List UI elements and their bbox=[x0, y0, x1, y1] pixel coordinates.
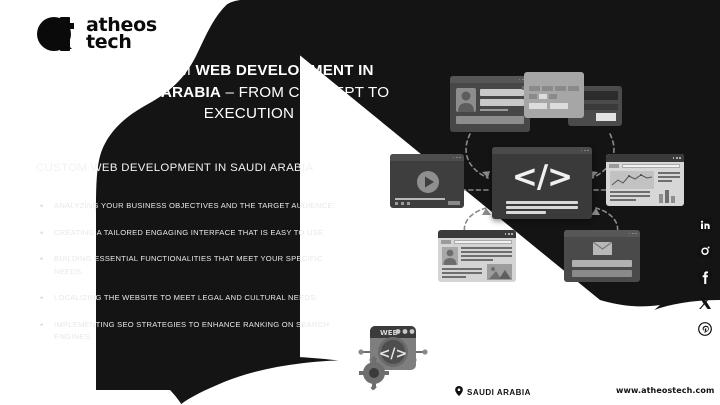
brand-wordmark: atheos tech bbox=[86, 17, 157, 52]
form-key[interactable] bbox=[529, 94, 537, 99]
article-line bbox=[461, 247, 512, 249]
poster-canvas: atheos tech CUSTOM WEB DEVELOPMENT IN SA… bbox=[0, 0, 720, 405]
footer-website[interactable]: www.atheostech.com bbox=[616, 386, 714, 395]
article-line bbox=[442, 268, 482, 270]
form-key[interactable] bbox=[529, 86, 540, 91]
window-dot-icon bbox=[679, 157, 681, 159]
svg-text:WEB: WEB bbox=[380, 329, 398, 337]
web-development-illustration: </> bbox=[392, 62, 692, 312]
form-key[interactable] bbox=[549, 94, 557, 99]
list-item: • LOCALIZING THE WEBSITE TO MEET LEGAL A… bbox=[40, 292, 340, 305]
form-key[interactable] bbox=[542, 86, 553, 91]
map-pin-icon bbox=[455, 386, 463, 398]
form-key[interactable] bbox=[539, 94, 547, 99]
window-titlebar bbox=[438, 230, 516, 238]
bullet-dot-icon: • bbox=[40, 253, 46, 279]
svg-text:</>: </> bbox=[379, 346, 408, 362]
article-line bbox=[461, 255, 512, 257]
window-dot-icon bbox=[456, 157, 458, 159]
list-item-text: ANALYZING YOUR BUSINESS OBJECTIVES AND T… bbox=[54, 200, 335, 213]
window-dot-icon bbox=[459, 157, 461, 159]
window-dot-icon bbox=[635, 233, 637, 235]
video-next-control[interactable] bbox=[401, 202, 404, 205]
list-item-text: IMPLEMENTING SEO STRATEGIES TO ENHANCE R… bbox=[54, 319, 340, 345]
window-dot-icon bbox=[508, 233, 510, 235]
bullet-dot-icon: • bbox=[40, 200, 46, 213]
sidebar-line bbox=[658, 180, 672, 182]
login-form-card[interactable] bbox=[450, 76, 530, 132]
window-titlebar bbox=[390, 154, 464, 161]
video-fullscreen-control[interactable] bbox=[448, 201, 460, 205]
video-volume-control[interactable] bbox=[407, 202, 410, 205]
envelope-icon bbox=[593, 242, 612, 255]
body-line bbox=[610, 195, 650, 197]
window-dot-icon bbox=[453, 157, 455, 159]
sidebar-line bbox=[658, 172, 680, 174]
toolbar-chip[interactable] bbox=[609, 164, 619, 168]
benefits-list: • ANALYZING YOUR BUSINESS OBJECTIVES AND… bbox=[40, 200, 340, 358]
list-item: • IMPLEMENTING SEO STRATEGIES TO ENHANCE… bbox=[40, 319, 340, 345]
analytics-dashboard-card[interactable] bbox=[606, 154, 684, 206]
form-key[interactable] bbox=[555, 86, 566, 91]
line-chart bbox=[610, 171, 654, 189]
atheos-a-t-monogram-icon bbox=[36, 13, 82, 55]
list-item-text: LOCALIZING THE WEBSITE TO MEET LEGAL AND… bbox=[54, 292, 318, 305]
footer-location-label: SAUDI ARABIA bbox=[467, 388, 531, 397]
headline-part-1: CUSTOM bbox=[124, 62, 195, 79]
avatar bbox=[442, 247, 458, 265]
video-player-card[interactable] bbox=[390, 154, 464, 208]
pinterest-icon[interactable] bbox=[698, 322, 712, 336]
window-titlebar bbox=[492, 147, 592, 154]
window-titlebar bbox=[450, 76, 530, 83]
list-item: • CREATING A TAILORED ENGAGING INTERFACE… bbox=[40, 227, 340, 240]
web-code-gear-icon: WEB </> bbox=[352, 318, 434, 390]
password-field[interactable] bbox=[480, 99, 524, 106]
newsletter-subscribe-card[interactable] bbox=[564, 230, 640, 282]
form-cancel-button[interactable] bbox=[550, 103, 568, 109]
form-key[interactable] bbox=[568, 86, 579, 91]
bullet-dot-icon: • bbox=[40, 292, 46, 305]
play-button-icon[interactable] bbox=[416, 170, 440, 194]
window-dot-icon bbox=[511, 233, 513, 235]
email-field[interactable] bbox=[572, 260, 632, 267]
sign-in-button[interactable] bbox=[456, 116, 524, 124]
bullet-dot-icon: • bbox=[40, 227, 46, 240]
article-line bbox=[442, 272, 482, 274]
toolbar-chip[interactable] bbox=[441, 240, 451, 244]
article-line bbox=[461, 259, 493, 261]
code-line bbox=[506, 201, 578, 204]
code-window-card[interactable]: </> bbox=[492, 147, 592, 219]
article-line bbox=[442, 276, 466, 278]
window-dot-icon bbox=[676, 157, 678, 159]
facebook-icon[interactable] bbox=[698, 270, 712, 284]
code-brackets-icon: </> bbox=[492, 159, 592, 195]
video-progress-bar[interactable] bbox=[395, 198, 445, 200]
body-line bbox=[610, 199, 636, 201]
logo-line-2: tech bbox=[86, 34, 157, 51]
window-dot-icon bbox=[629, 233, 631, 235]
blog-article-card[interactable] bbox=[438, 230, 516, 282]
address-bar[interactable] bbox=[454, 240, 512, 244]
linkedin-icon[interactable] bbox=[698, 218, 712, 232]
list-item: • BUILDING ESSENTIAL FUNCTIONALITIES THA… bbox=[40, 253, 340, 279]
article-line bbox=[461, 251, 512, 253]
social-links-rail bbox=[698, 218, 712, 336]
username-field[interactable] bbox=[480, 89, 524, 96]
list-item-text: BUILDING ESSENTIAL FUNCTIONALITIES THAT … bbox=[54, 253, 340, 279]
headline-part-3: – FROM CONCEPT TO EXECUTION bbox=[204, 84, 389, 123]
bullet-dot-icon: • bbox=[40, 319, 46, 345]
x-twitter-icon[interactable] bbox=[698, 296, 712, 310]
list-item: • ANALYZING YOUR BUSINESS OBJECTIVES AND… bbox=[40, 200, 340, 213]
brand-logo[interactable]: atheos tech bbox=[36, 10, 181, 58]
window-dot-icon bbox=[505, 233, 507, 235]
sidebar-line bbox=[658, 176, 680, 178]
code-line bbox=[506, 211, 546, 214]
window-dot-icon bbox=[519, 79, 521, 81]
section-subheading: CUSTOM WEB DEVELOPMENT IN SAUDI ARABIA bbox=[36, 162, 366, 174]
panel-button[interactable] bbox=[596, 113, 616, 121]
subscribe-button[interactable] bbox=[572, 270, 632, 277]
form-panel-card[interactable] bbox=[524, 72, 584, 118]
code-line bbox=[506, 206, 578, 209]
window-dot-icon bbox=[632, 233, 634, 235]
window-dot-icon bbox=[581, 150, 583, 152]
window-titlebar bbox=[564, 230, 640, 237]
window-titlebar bbox=[606, 154, 684, 162]
video-play-control[interactable] bbox=[395, 202, 398, 205]
window-dot-icon bbox=[673, 157, 675, 159]
form-submit-button[interactable] bbox=[529, 103, 547, 109]
image-placeholder-icon bbox=[487, 264, 512, 280]
avatar bbox=[456, 88, 476, 112]
body-line bbox=[610, 191, 650, 193]
forgot-password-link[interactable] bbox=[480, 109, 508, 111]
bar-chart bbox=[658, 187, 680, 203]
list-item-text: CREATING A TAILORED ENGAGING INTERFACE T… bbox=[54, 227, 326, 240]
window-dot-icon bbox=[584, 150, 586, 152]
page-title: CUSTOM WEB DEVELOPMENT IN SAUDI ARABIA –… bbox=[104, 60, 394, 125]
instagram-icon[interactable] bbox=[698, 244, 712, 258]
address-bar[interactable] bbox=[622, 164, 680, 168]
footer-location: SAUDI ARABIA bbox=[455, 386, 531, 398]
window-dot-icon bbox=[587, 150, 589, 152]
